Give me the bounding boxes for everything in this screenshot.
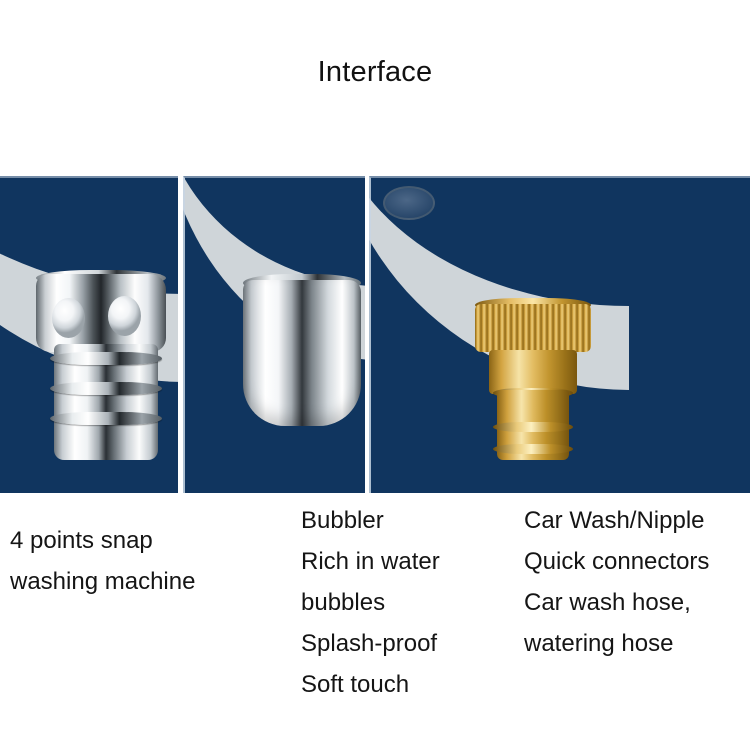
- bubbler-cap-icon: [243, 280, 361, 426]
- caption-line: Quick connectors: [524, 541, 750, 582]
- caption-bubbler: Bubbler Rich in water bubbles Splash-pro…: [301, 500, 516, 705]
- connector-ring-icon: [50, 352, 162, 365]
- caption-line: washing machine: [10, 561, 260, 602]
- caption-line: 4 points snap: [10, 520, 260, 561]
- caption-row: 4 points snap washing machine Bubbler Ri…: [0, 500, 750, 750]
- product-panel-bubbler: [183, 176, 365, 493]
- snap-point-icon: [52, 298, 85, 338]
- caption-line: Car Wash/Nipple: [524, 500, 750, 541]
- caption-line: watering hose: [524, 623, 750, 664]
- caption-line: Car wash hose,: [524, 582, 750, 623]
- snap-point-icon: [108, 296, 141, 336]
- caption-line: bubbles: [301, 582, 516, 623]
- brass-knurled-ring-icon: [475, 304, 591, 352]
- caption-line: Splash-proof: [301, 623, 516, 664]
- product-feature-image: Interface: [0, 0, 750, 750]
- product-panel-car-wash-nipple: [369, 176, 750, 493]
- caption-4-point-snap: 4 points snap washing machine: [10, 520, 260, 602]
- caption-car-wash-nipple: Car Wash/Nipple Quick connectors Car was…: [524, 500, 750, 664]
- product-panel-row: [0, 176, 750, 493]
- brand-engraving-icon: [383, 186, 435, 220]
- caption-line: Bubbler: [301, 500, 516, 541]
- product-panel-4-point-snap: [0, 176, 178, 493]
- page-title: Interface: [0, 55, 750, 89]
- connector-ring-icon: [50, 412, 162, 425]
- connector-ring-icon: [50, 382, 162, 395]
- caption-line: Soft touch: [301, 664, 516, 705]
- caption-line: Rich in water: [301, 541, 516, 582]
- brass-step-ring-icon: [493, 444, 573, 454]
- brass-step-ring-icon: [493, 422, 573, 432]
